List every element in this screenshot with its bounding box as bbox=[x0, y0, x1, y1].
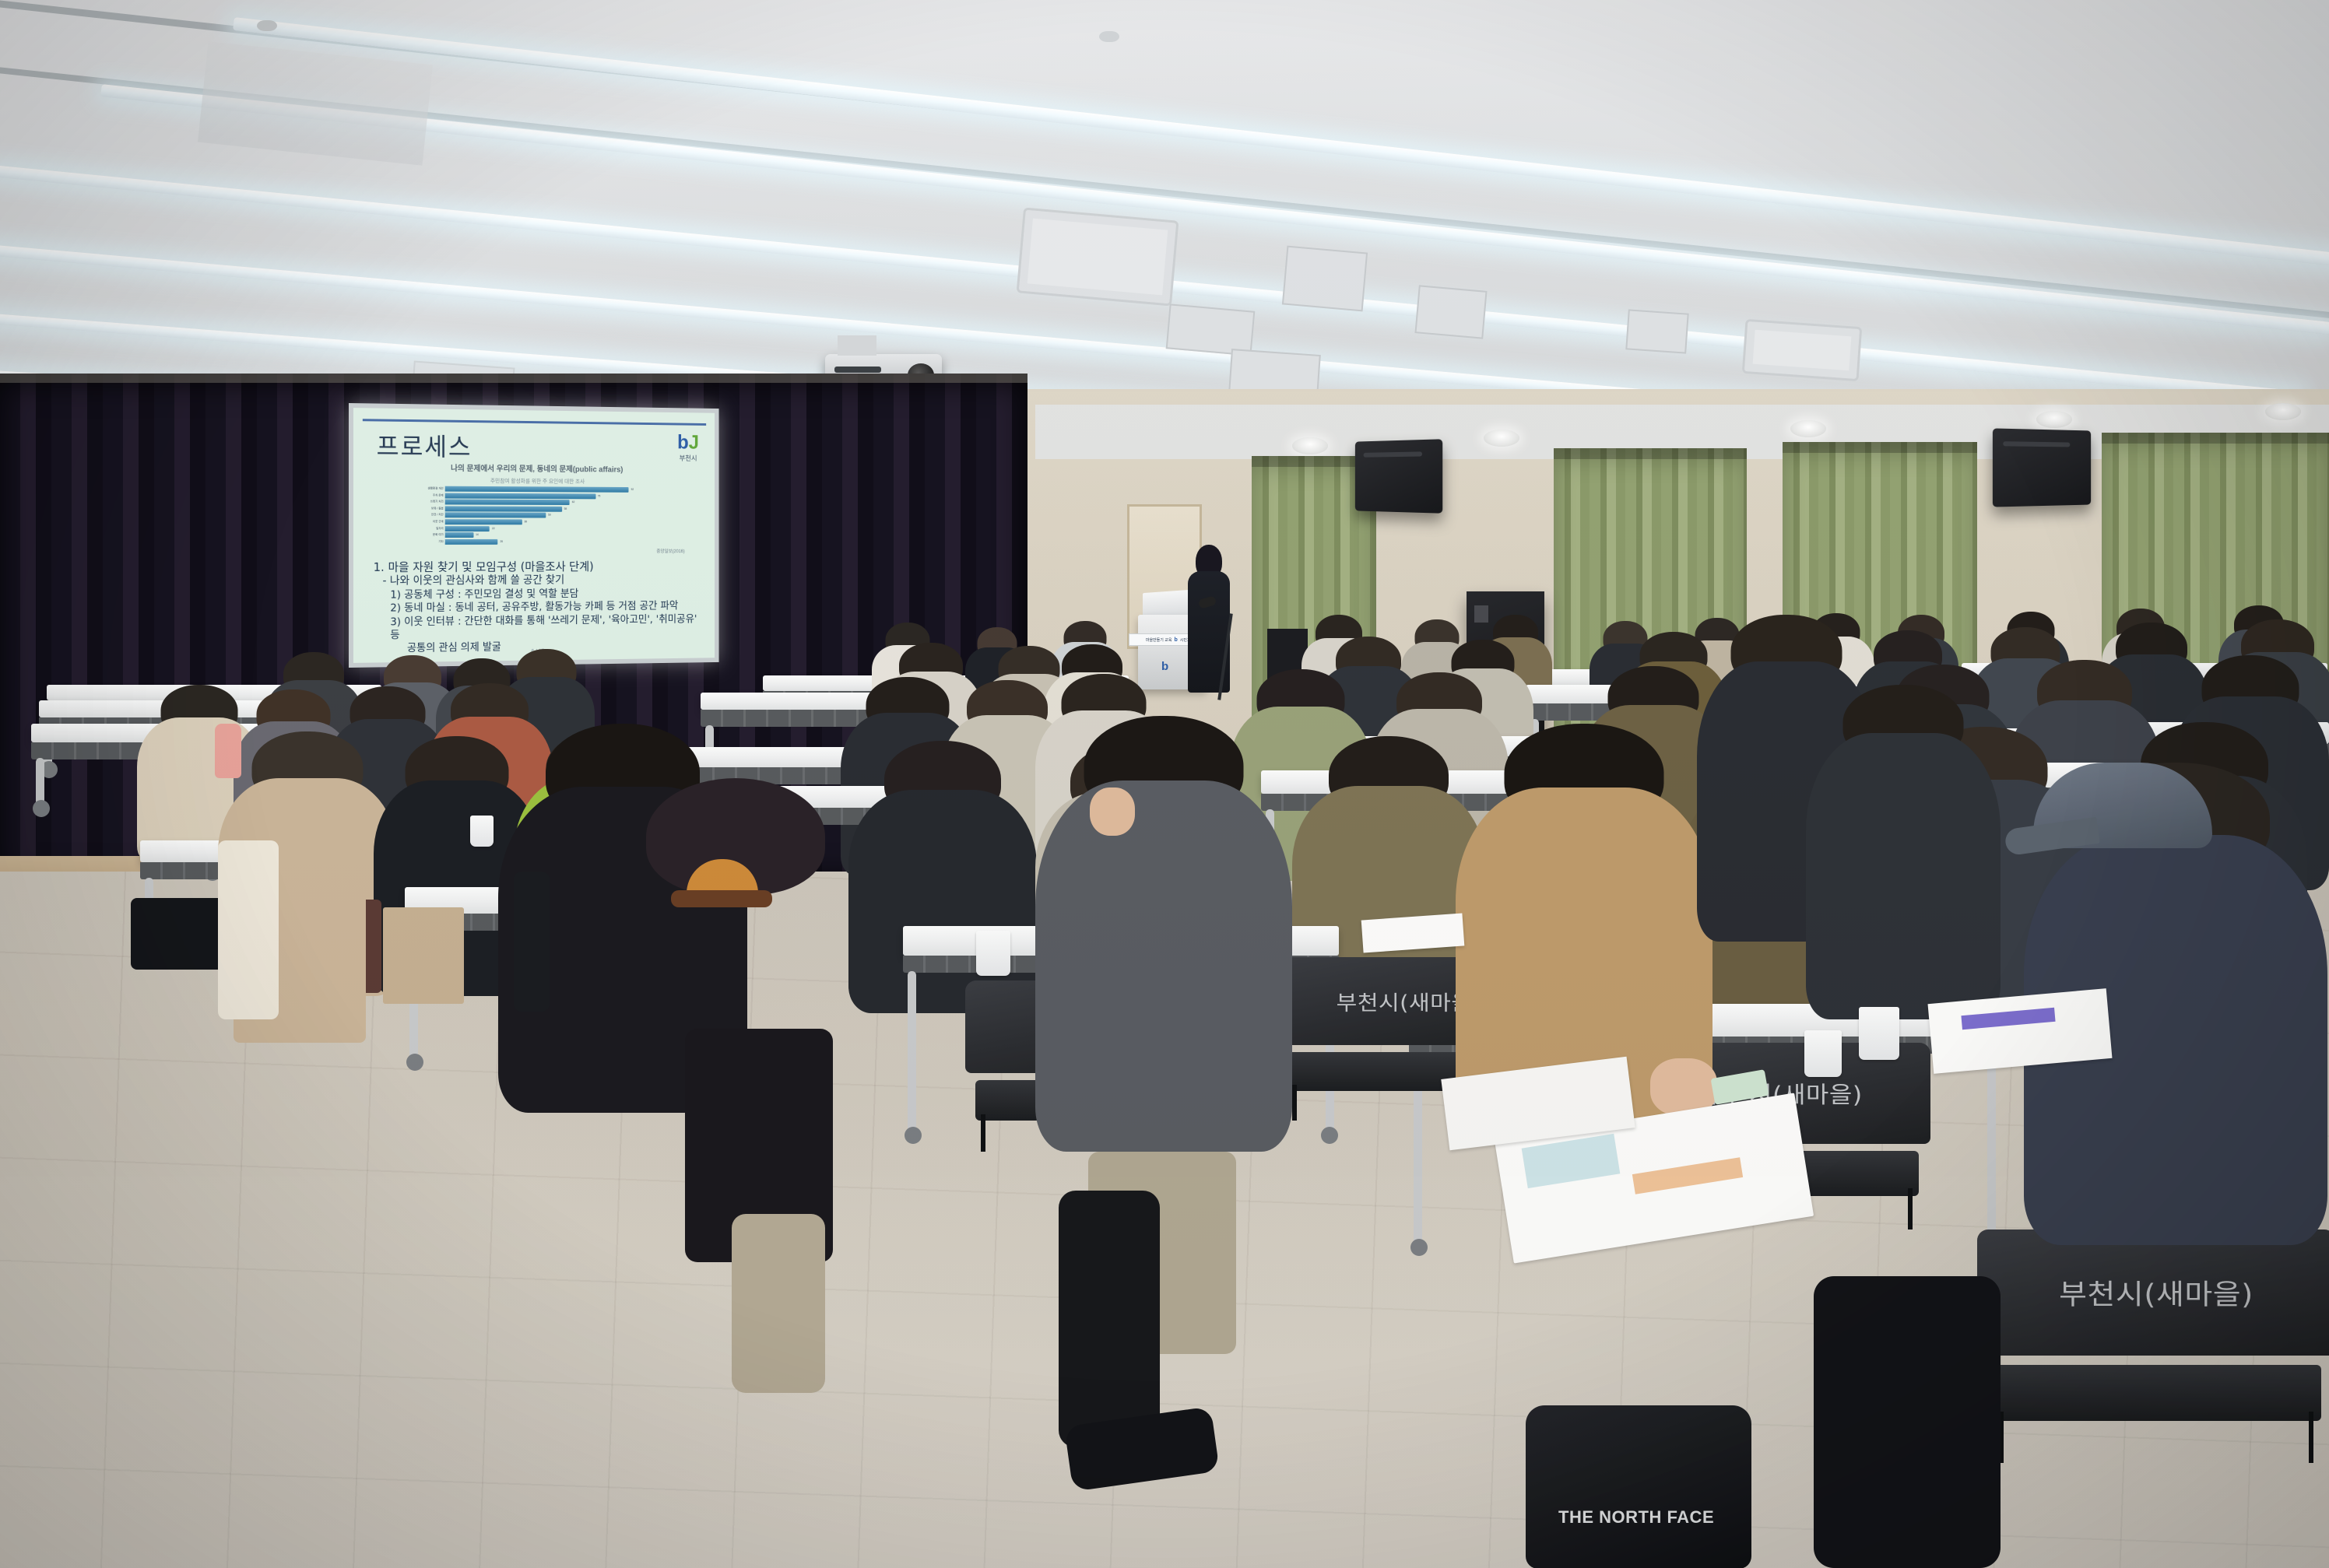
draped-scarf bbox=[218, 840, 279, 1019]
table-leg bbox=[908, 971, 916, 1135]
paper-cup[interactable] bbox=[470, 816, 494, 847]
attendee-torso bbox=[1806, 733, 2001, 1019]
attendee bbox=[1806, 685, 2001, 1019]
paper-cup[interactable] bbox=[1804, 1030, 1842, 1077]
table-caster[interactable] bbox=[33, 800, 50, 817]
table-caster[interactable] bbox=[406, 1054, 423, 1071]
hat-brim bbox=[671, 890, 772, 907]
attendee-torso bbox=[848, 790, 1037, 1013]
table-caster[interactable] bbox=[1321, 1127, 1338, 1144]
hand bbox=[1090, 788, 1135, 836]
backpack[interactable] bbox=[131, 898, 224, 970]
shoulder-strap bbox=[514, 872, 550, 1012]
table-leg bbox=[1987, 1052, 1996, 1247]
paper-cup[interactable] bbox=[1859, 1007, 1899, 1060]
attendee-torso bbox=[1035, 780, 1292, 1152]
backpack-brand-label: THE NORTH FACE bbox=[1558, 1508, 1714, 1526]
lecture-hall-photo: 프로세스 bJ 부천시 나의 문제에서 우리의 문제, 동네의 문제(publi… bbox=[0, 0, 2329, 1568]
northface-backpack[interactable]: THE NORTH FACE bbox=[1526, 1405, 1751, 1568]
table-caster[interactable] bbox=[1410, 1239, 1428, 1256]
seating-area: 부천시(새마을)부천시(새마을)부천시(새마을)부천시(새마을)부천시(새마을)… bbox=[0, 0, 2329, 1568]
chair[interactable]: 부천시(새마을) bbox=[1977, 1229, 2329, 1463]
pink-tumbler[interactable] bbox=[215, 724, 241, 778]
trousers bbox=[1814, 1276, 2001, 1568]
paper-shopping-bag[interactable] bbox=[383, 907, 464, 1004]
chair-back: 부천시(새마을) bbox=[1977, 1229, 2329, 1356]
chair-brand-label: 부천시(새마을) bbox=[2059, 1272, 2253, 1313]
table-caster[interactable] bbox=[905, 1127, 922, 1144]
trousers bbox=[1059, 1191, 1160, 1447]
attendee-grey-coat bbox=[1035, 716, 1292, 1152]
chair-legs bbox=[1999, 1412, 2314, 1463]
trousers bbox=[732, 1214, 825, 1393]
paper-cup[interactable] bbox=[976, 931, 1010, 976]
